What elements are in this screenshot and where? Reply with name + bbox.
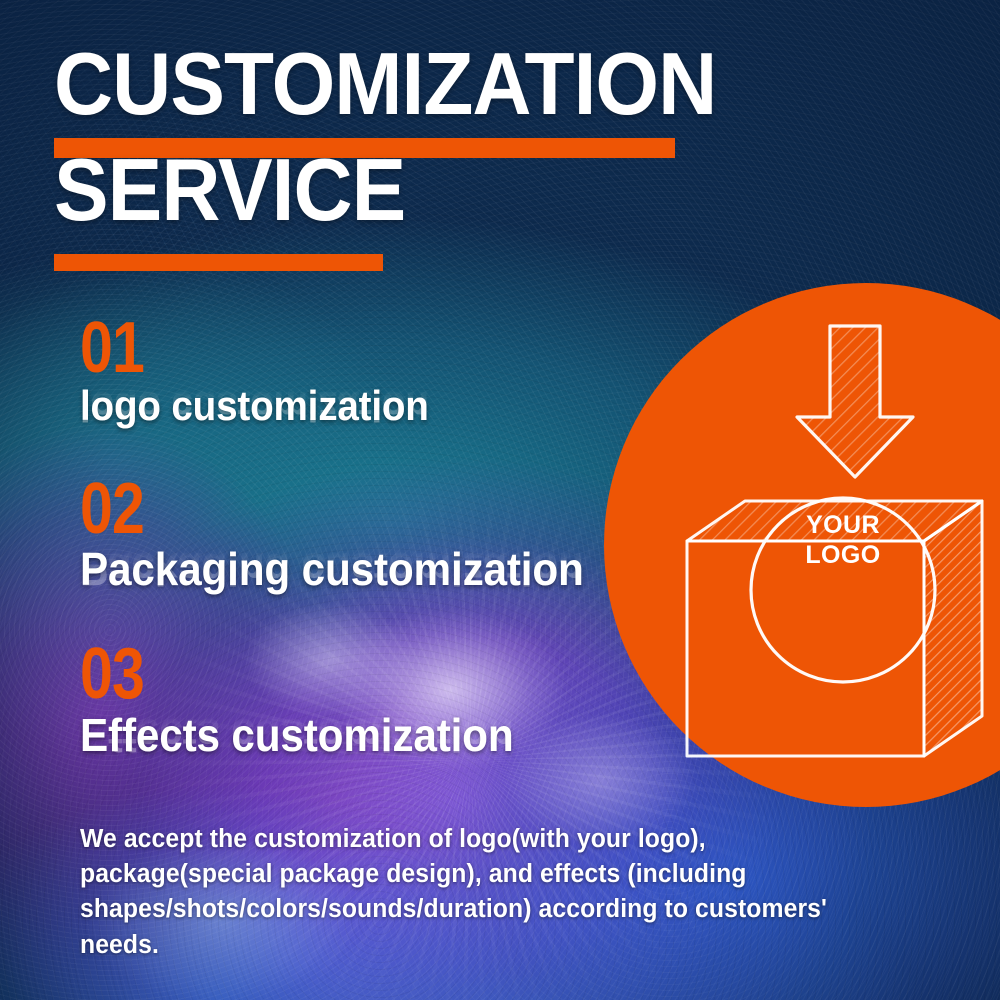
your-logo-line-2: LOGO — [805, 541, 880, 569]
headline-line-1: CUSTOMIZATION — [54, 44, 779, 125]
item-number-03: 03 — [80, 644, 605, 705]
headline-underline-bar-2 — [54, 254, 383, 271]
item-label-03: Effects customization — [80, 712, 669, 758]
item-label-02: Packaging customization — [80, 546, 669, 592]
headline-line-2: SERVICE — [54, 150, 779, 231]
item-number-02: 02 — [80, 479, 605, 540]
item-label-01: logo customization — [80, 385, 669, 427]
page-title: CUSTOMIZATION SERVICE — [54, 44, 834, 270]
your-logo-placeholder: YOUR LOGO — [764, 511, 922, 570]
customization-artwork: YOUR LOGO — [604, 283, 1000, 807]
promo-banner: CUSTOMIZATION SERVICE 01 logo customizat… — [0, 0, 1000, 1000]
item-number-01: 01 — [80, 318, 605, 379]
your-logo-line-1: YOUR — [806, 511, 880, 539]
headline-line-2-row: SERVICE — [54, 150, 834, 270]
body-copy: We accept the customization of logo(with… — [80, 822, 846, 963]
down-arrow-icon — [797, 326, 913, 477]
